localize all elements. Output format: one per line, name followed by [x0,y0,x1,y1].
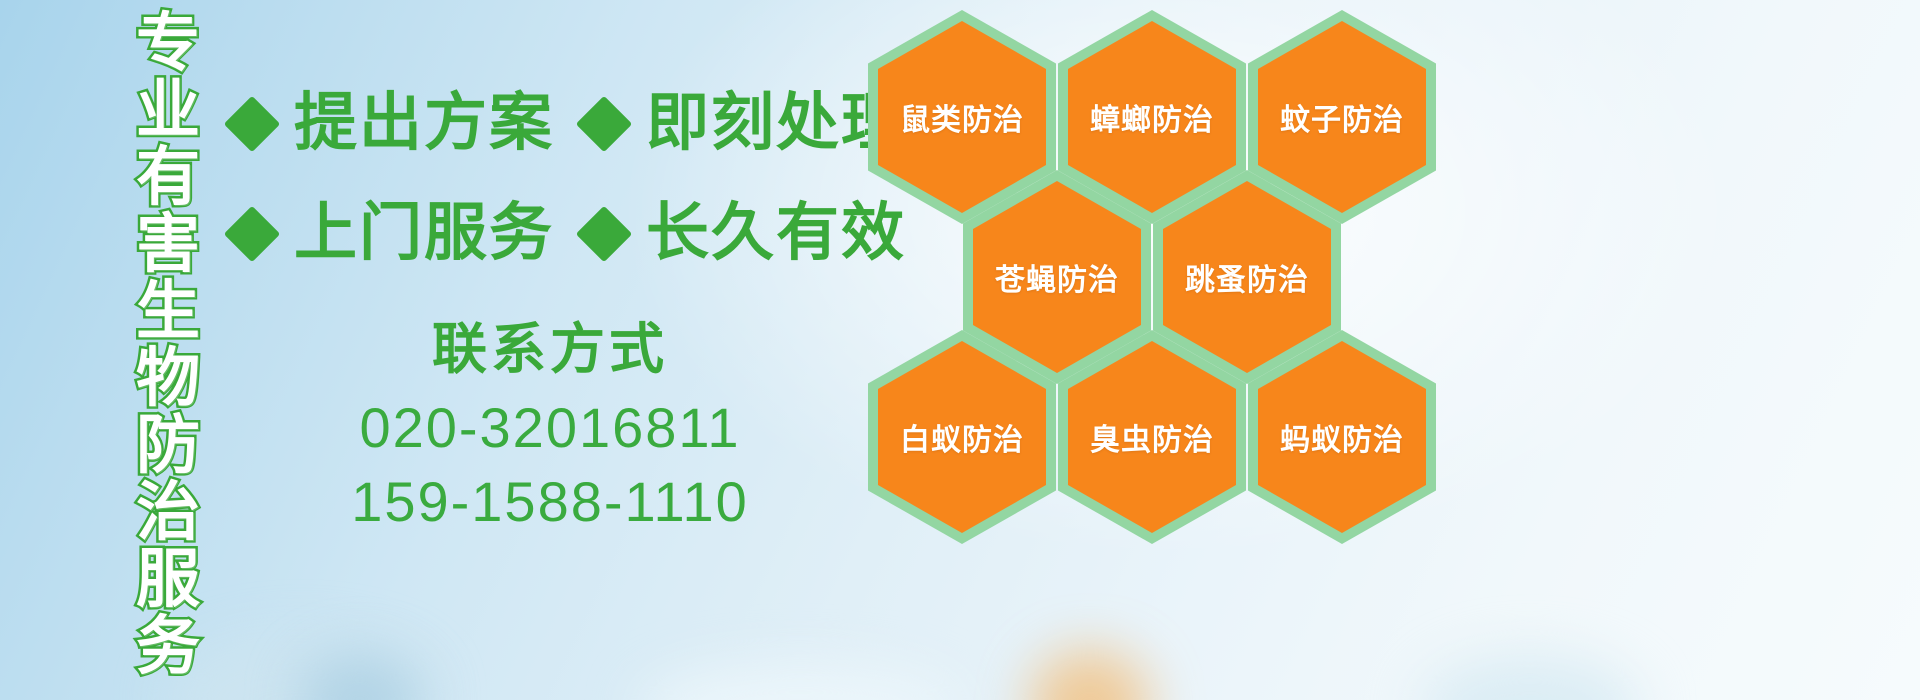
feature-row-1: 提出方案 即刻处理 [232,92,906,155]
service-hexagon-inner: 臭虫防治 [1068,341,1236,533]
phone-number-landline[interactable]: 020-32016811 [300,391,800,465]
service-hexagon-inner: 蟑螂防治 [1068,21,1236,213]
diamond-bullet-icon [576,205,633,262]
service-label: 跳蚤防治 [1185,255,1309,299]
vertical-headline-char: 专 [112,12,224,79]
feature-label: 提出方案 [294,92,554,155]
feature-label: 上门服务 [294,202,554,265]
diamond-bullet-icon [224,95,281,152]
service-label: 鼠类防治 [900,95,1024,139]
vertical-headline-char: 物 [112,347,224,414]
vertical-headline-char: 务 [112,615,224,682]
vertical-headline-char: 防 [112,414,224,481]
service-label: 蟑螂防治 [1090,95,1214,139]
diamond-bullet-icon [576,95,633,152]
service-label: 蚂蚁防治 [1280,415,1404,459]
service-label: 白蚁防治 [900,415,1024,459]
vertical-headline-char: 业 [112,79,224,146]
service-hexagon-inner: 鼠类防治 [878,21,1046,213]
vertical-headline-char: 有 [112,146,224,213]
service-hexagon-inner: 白蚁防治 [878,341,1046,533]
decorative-blob [640,665,960,700]
pest-control-banner: 专 业 有 害 生 物 防 治 服 务 提出方案 即刻处理 上门服务 长久有效 … [0,0,1920,700]
phone-number-mobile[interactable]: 159-1588-1110 [300,465,800,539]
vertical-headline-char: 服 [112,548,224,615]
contact-heading: 联系方式 [300,318,800,381]
service-label: 蚊子防治 [1280,95,1404,139]
decorative-blob [300,655,420,700]
service-label: 臭虫防治 [1090,415,1214,459]
service-hexagon-inner: 蚊子防治 [1258,21,1426,213]
service-hexagon-inner: 跳蚤防治 [1163,181,1331,373]
diamond-bullet-icon [224,205,281,262]
vertical-headline-char: 治 [112,481,224,548]
service-hexagon-inner: 蚂蚁防治 [1258,341,1426,533]
vertical-headline-char: 生 [112,280,224,347]
service-hexagon-inner: 苍蝇防治 [973,181,1141,373]
service-label: 苍蝇防治 [995,255,1119,299]
vertical-headline: 专 业 有 害 生 物 防 治 服 务 [112,12,224,688]
decorative-blob [1420,655,1640,700]
feature-row-2: 上门服务 长久有效 [232,202,906,265]
contact-block: 联系方式 020-32016811 159-1588-1110 [300,318,800,539]
service-honeycomb: 鼠类防治 蟑螂防治 蚊子防治 苍蝇防治 跳蚤防治 白蚁防治 [862,0,1462,570]
vertical-headline-char: 害 [112,213,224,280]
decorative-blob [1030,650,1150,700]
